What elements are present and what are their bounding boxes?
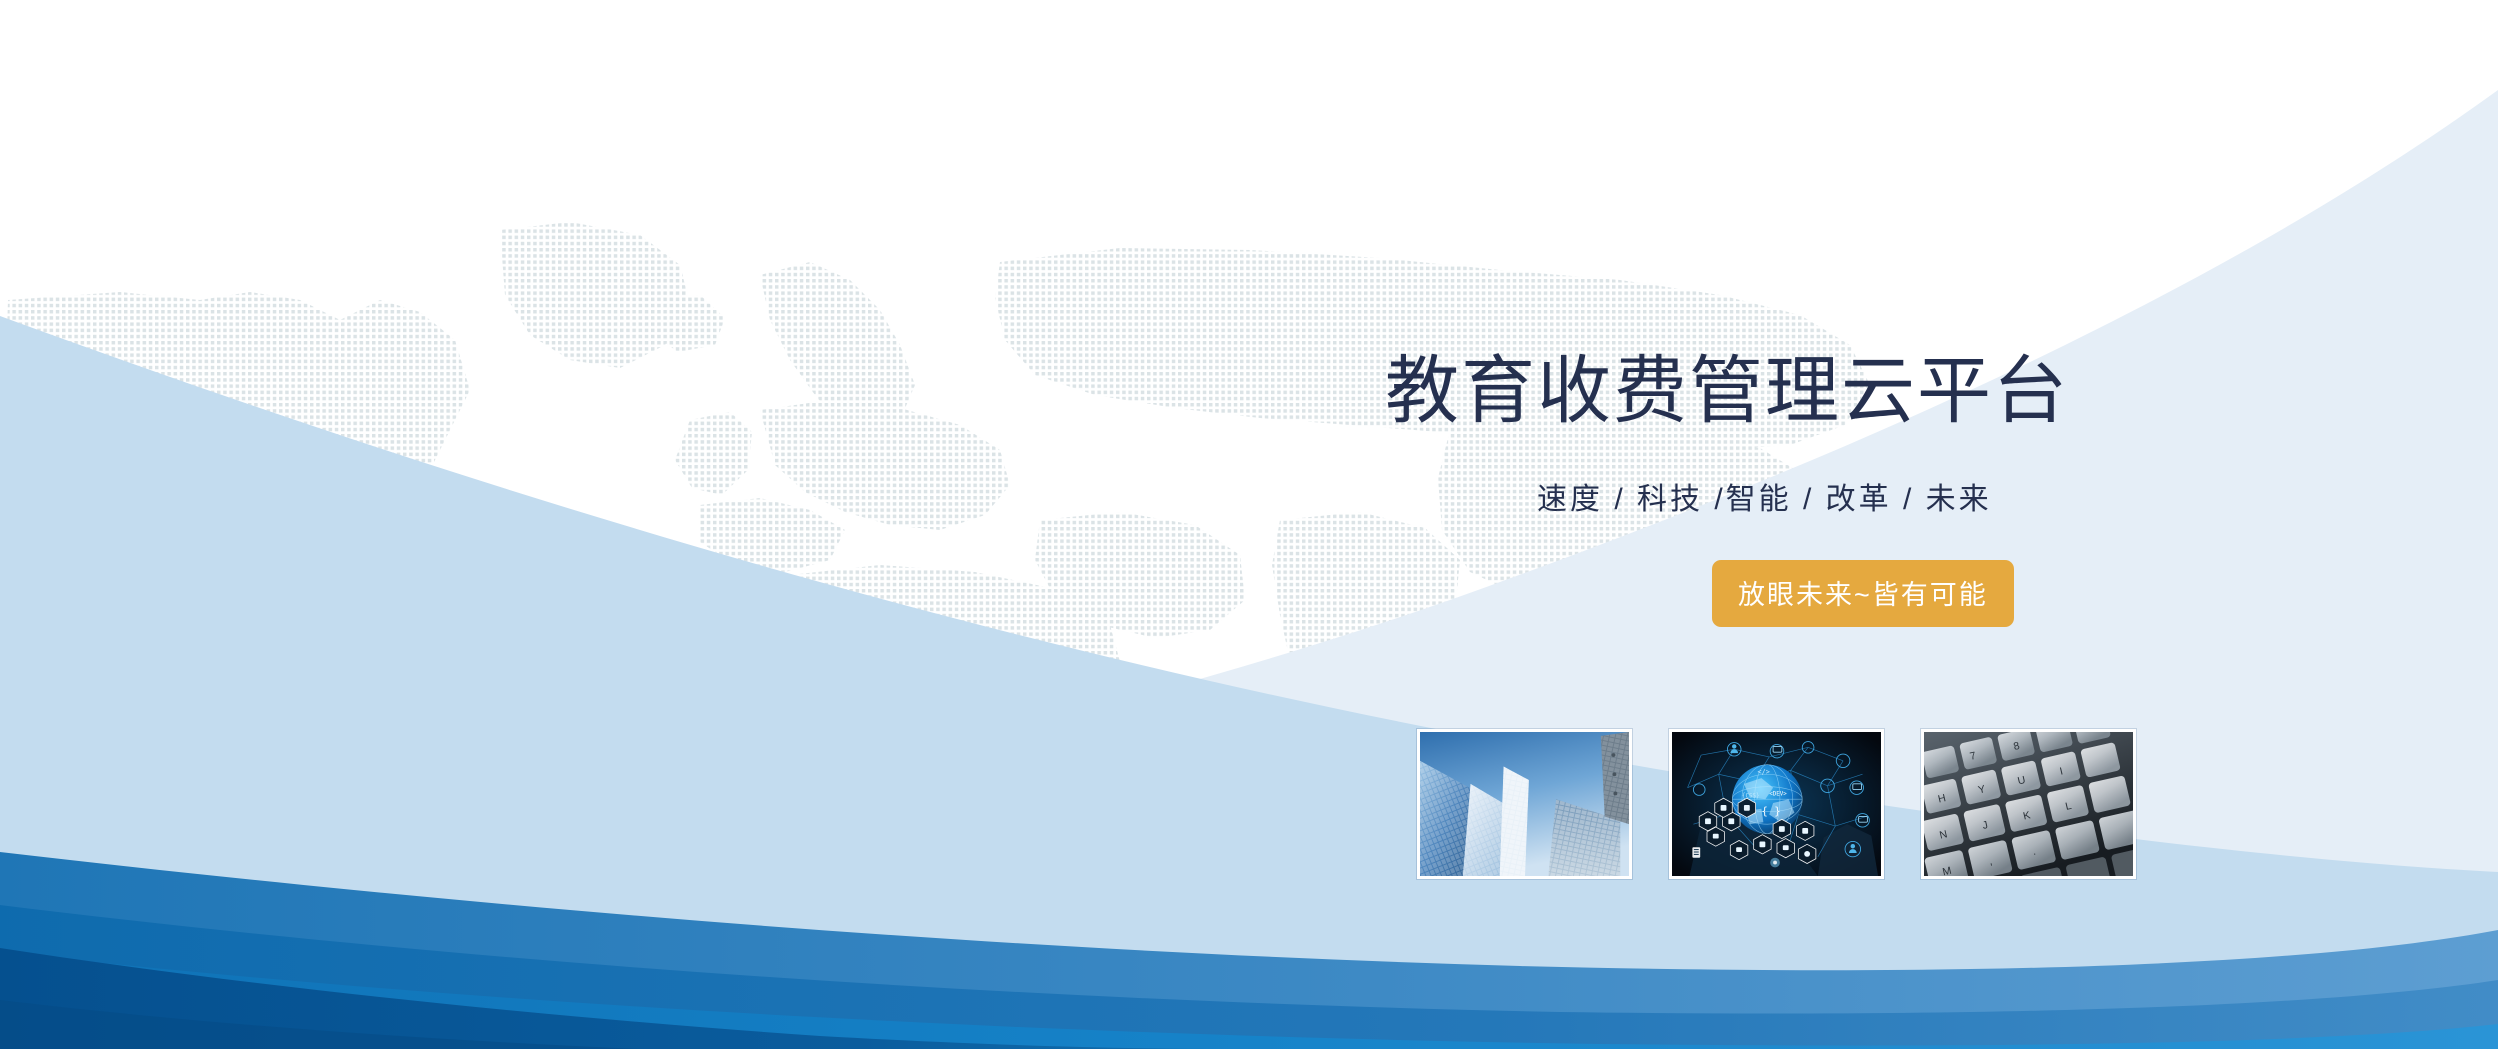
svg-text:<DEV>: <DEV>	[1769, 791, 1787, 797]
svg-text:{ }: { }	[1761, 805, 1780, 818]
hero-tagline: 速度 / 科技 /智能 / 改革 / 未来	[1537, 474, 2185, 518]
thumbnail-skyscrapers[interactable]	[1417, 729, 1632, 879]
thumbnail-strip: {CSS} <DEV> { } </>	[1417, 729, 2136, 879]
thumbnail-keyboard[interactable]: 7 8 8 H Y U I N J K L M , .	[1921, 729, 2136, 879]
hero-banner: 教育收费管理云平台 速度 / 科技 /智能 / 改革 / 未来 放眼未来~皆有可…	[0, 0, 2498, 1049]
cta-container: 放眼未来~皆有可能	[1712, 560, 2185, 627]
hero-content: 教育收费管理云平台 速度 / 科技 /智能 / 改革 / 未来 放眼未来~皆有可…	[1385, 352, 2185, 627]
thumbnail-tech-globe[interactable]: {CSS} <DEV> { } </>	[1669, 729, 1884, 879]
cta-button[interactable]: 放眼未来~皆有可能	[1712, 560, 2014, 627]
page-title: 教育收费管理云平台	[1385, 352, 2185, 430]
svg-text:{CSS}: {CSS}	[1742, 793, 1760, 799]
svg-text:</>: </>	[1758, 768, 1770, 776]
